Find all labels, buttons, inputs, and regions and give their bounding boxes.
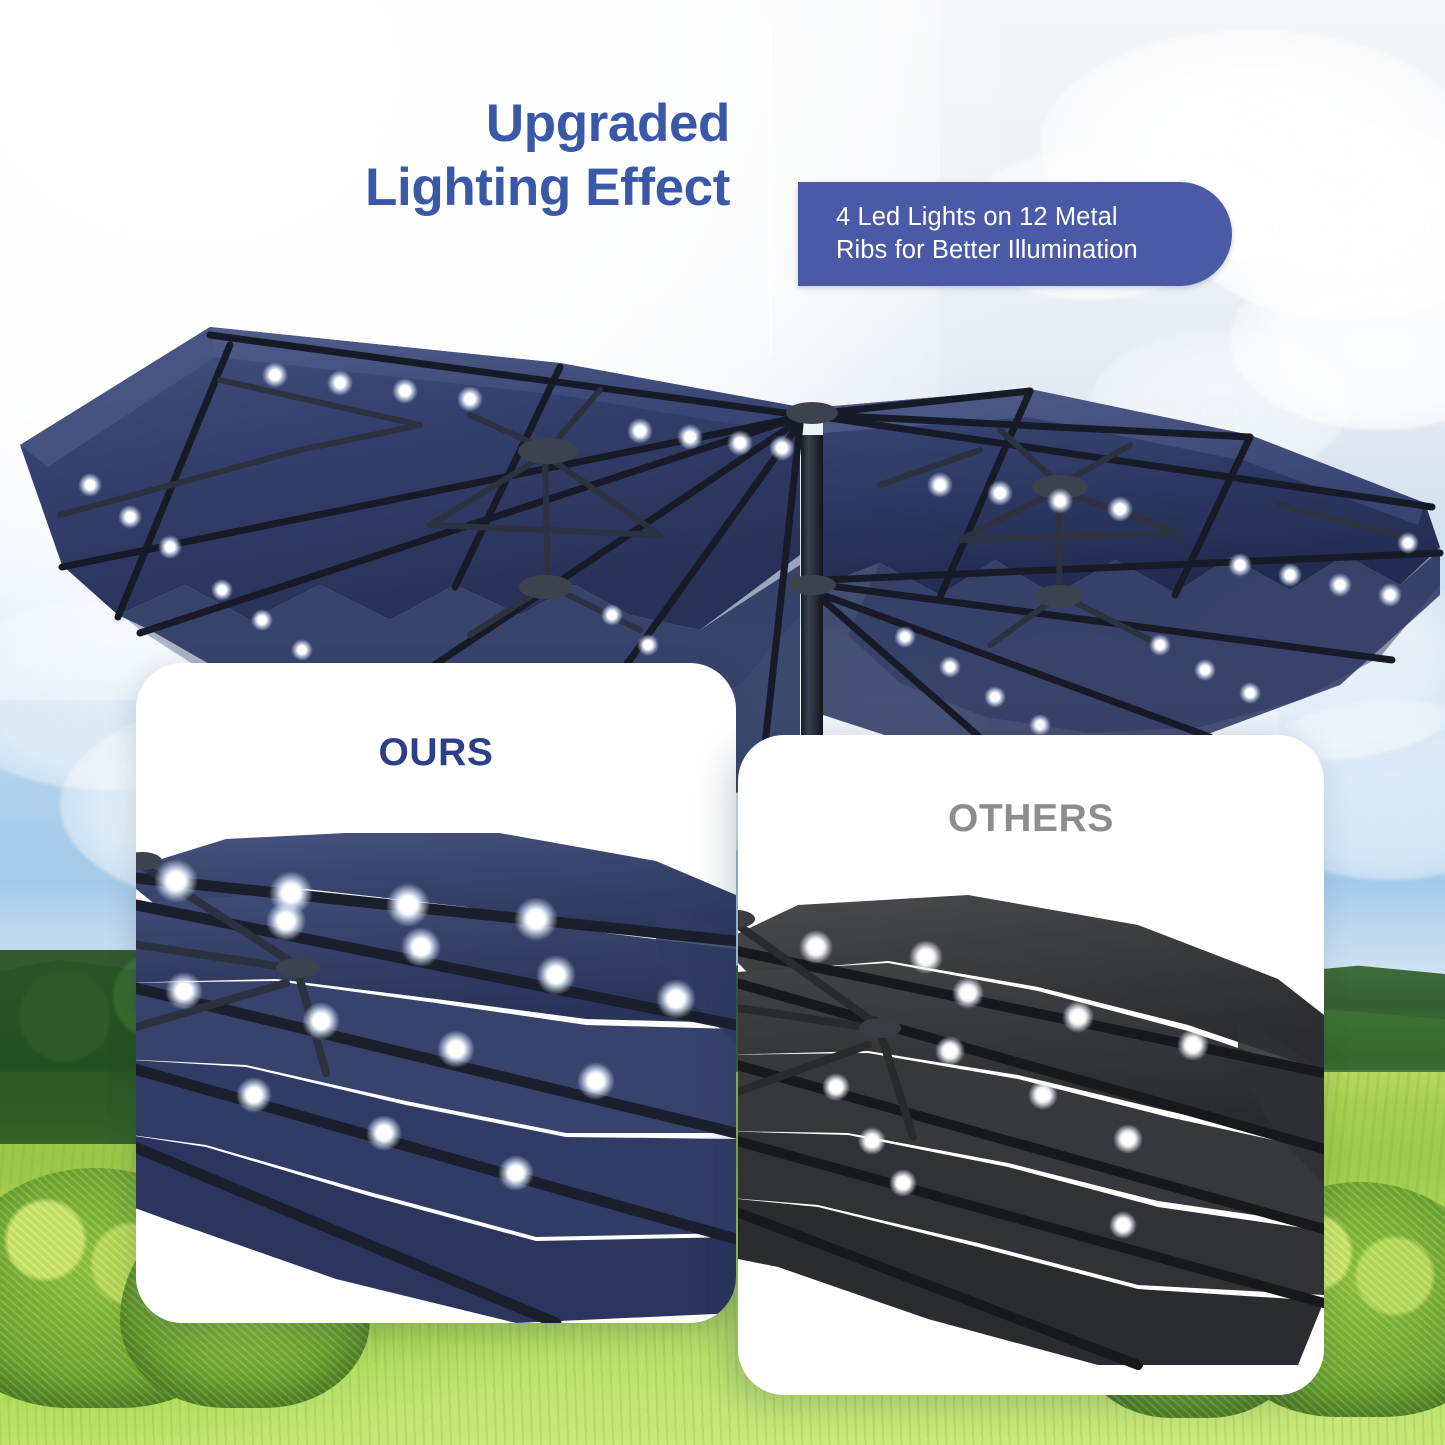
headline-line-2: Lighting Effect: [170, 156, 730, 220]
feature-badge-text: 4 Led Lights on 12 Metal Ribs for Better…: [836, 201, 1138, 267]
comparison-card-ours: OURS: [136, 663, 736, 1323]
marketing-image-canvas: Upgraded Lighting Effect 4 Led Lights on…: [0, 0, 1445, 1445]
comparison-card-ours-title: OURS: [136, 731, 736, 775]
ours-umbrella-photo: [136, 833, 736, 1323]
others-umbrella-photo: [738, 895, 1324, 1395]
badge-line-2: Ribs for Better Illumination: [836, 236, 1138, 264]
headline-line-1: Upgraded: [486, 94, 730, 153]
comparison-card-others: OTHERS: [738, 735, 1324, 1395]
feature-badge: 4 Led Lights on 12 Metal Ribs for Better…: [798, 182, 1232, 286]
page-title: Upgraded Lighting Effect: [170, 92, 730, 219]
vertical-divider: [769, 25, 772, 357]
comparison-card-others-title: OTHERS: [738, 797, 1324, 841]
badge-line-1: 4 Led Lights on 12 Metal: [836, 203, 1118, 231]
